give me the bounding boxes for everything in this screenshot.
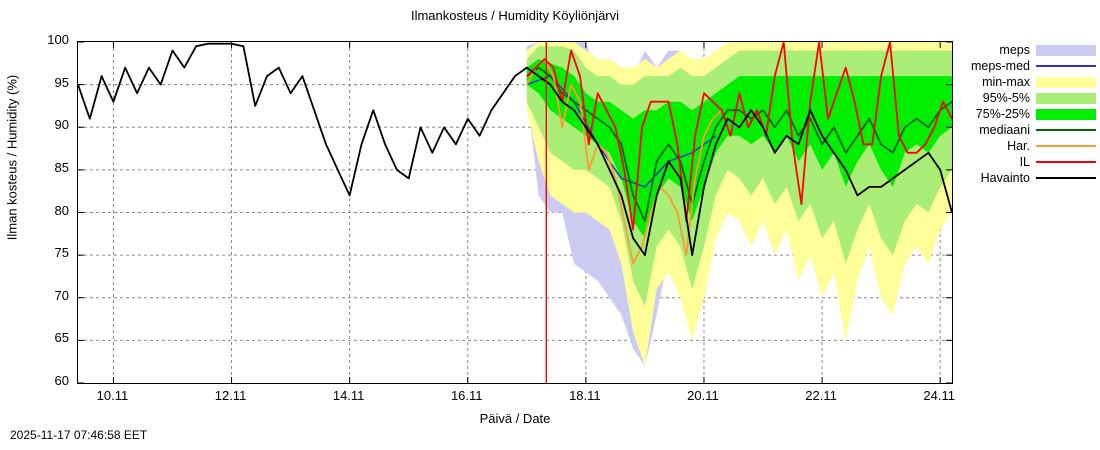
x-tick-label: 22.11 — [791, 388, 851, 403]
plot-svg — [78, 42, 952, 383]
legend-item-75-25[interactable]: 75%-25% — [960, 106, 1096, 122]
timestamp-label: 2025-11-17 07:46:58 EET — [10, 428, 147, 442]
legend-swatch — [1036, 109, 1096, 120]
legend-item-label: Har. — [1007, 139, 1036, 153]
legend-line-sample — [1036, 65, 1096, 67]
legend-item-meps[interactable]: meps — [960, 42, 1096, 58]
x-tick-label: 14.11 — [319, 388, 379, 403]
chart-title: Ilmankosteus / Humidity Köyliönjärvi — [0, 8, 1030, 23]
legend-line-sample — [1036, 129, 1096, 131]
legend-item-label: min-max — [982, 75, 1036, 89]
legend-item-label: 75%-25% — [976, 107, 1036, 121]
y-tick-label: 80 — [29, 203, 69, 218]
x-tick-label: 10.11 — [82, 388, 142, 403]
legend-item-label: meps — [999, 43, 1036, 57]
x-tick-label: 12.11 — [201, 388, 261, 403]
y-tick-label: 75 — [29, 245, 69, 260]
legend-item-min-max[interactable]: min-max — [960, 74, 1096, 90]
legend-item-mediaani[interactable]: mediaani — [960, 122, 1096, 138]
legend: mepsmeps-medmin-max95%-5%75%-25%mediaani… — [960, 42, 1096, 186]
legend-swatch — [1036, 45, 1096, 56]
legend-item-95-5[interactable]: 95%-5% — [960, 90, 1096, 106]
legend-item-label: Havainto — [981, 171, 1036, 185]
x-tick-label: 20.11 — [673, 388, 733, 403]
legend-line-sample — [1036, 161, 1096, 163]
legend-item-il[interactable]: IL — [960, 154, 1096, 170]
legend-item-label: IL — [1020, 155, 1036, 169]
legend-line-sample — [1036, 177, 1096, 179]
legend-item-har[interactable]: Har. — [960, 138, 1096, 154]
legend-item-meps-med[interactable]: meps-med — [960, 58, 1096, 74]
x-tick-label: 18.11 — [555, 388, 615, 403]
y-tick-label: 90 — [29, 117, 69, 132]
legend-item-havainto[interactable]: Havainto — [960, 170, 1096, 186]
plot-area[interactable] — [77, 41, 953, 384]
chart-page: Ilmankosteus / Humidity Köyliönjärvi Ilm… — [0, 0, 1100, 450]
y-axis-title: Ilman kosteus / Humidity (%) — [5, 0, 20, 318]
legend-item-label: mediaani — [979, 123, 1036, 137]
x-tick-label: 16.11 — [437, 388, 497, 403]
legend-swatch — [1036, 93, 1096, 104]
y-tick-label: 95 — [29, 75, 69, 90]
y-tick-label: 85 — [29, 160, 69, 175]
legend-item-label: meps-med — [971, 59, 1036, 73]
legend-swatch — [1036, 77, 1096, 88]
x-tick-label: 24.11 — [909, 388, 969, 403]
y-tick-label: 70 — [29, 288, 69, 303]
y-tick-label: 100 — [29, 32, 69, 47]
legend-item-label: 95%-5% — [983, 91, 1036, 105]
legend-line-sample — [1036, 145, 1096, 147]
x-axis-title: Päivä / Date — [77, 411, 953, 426]
y-tick-label: 65 — [29, 330, 69, 345]
y-tick-label: 60 — [29, 373, 69, 388]
